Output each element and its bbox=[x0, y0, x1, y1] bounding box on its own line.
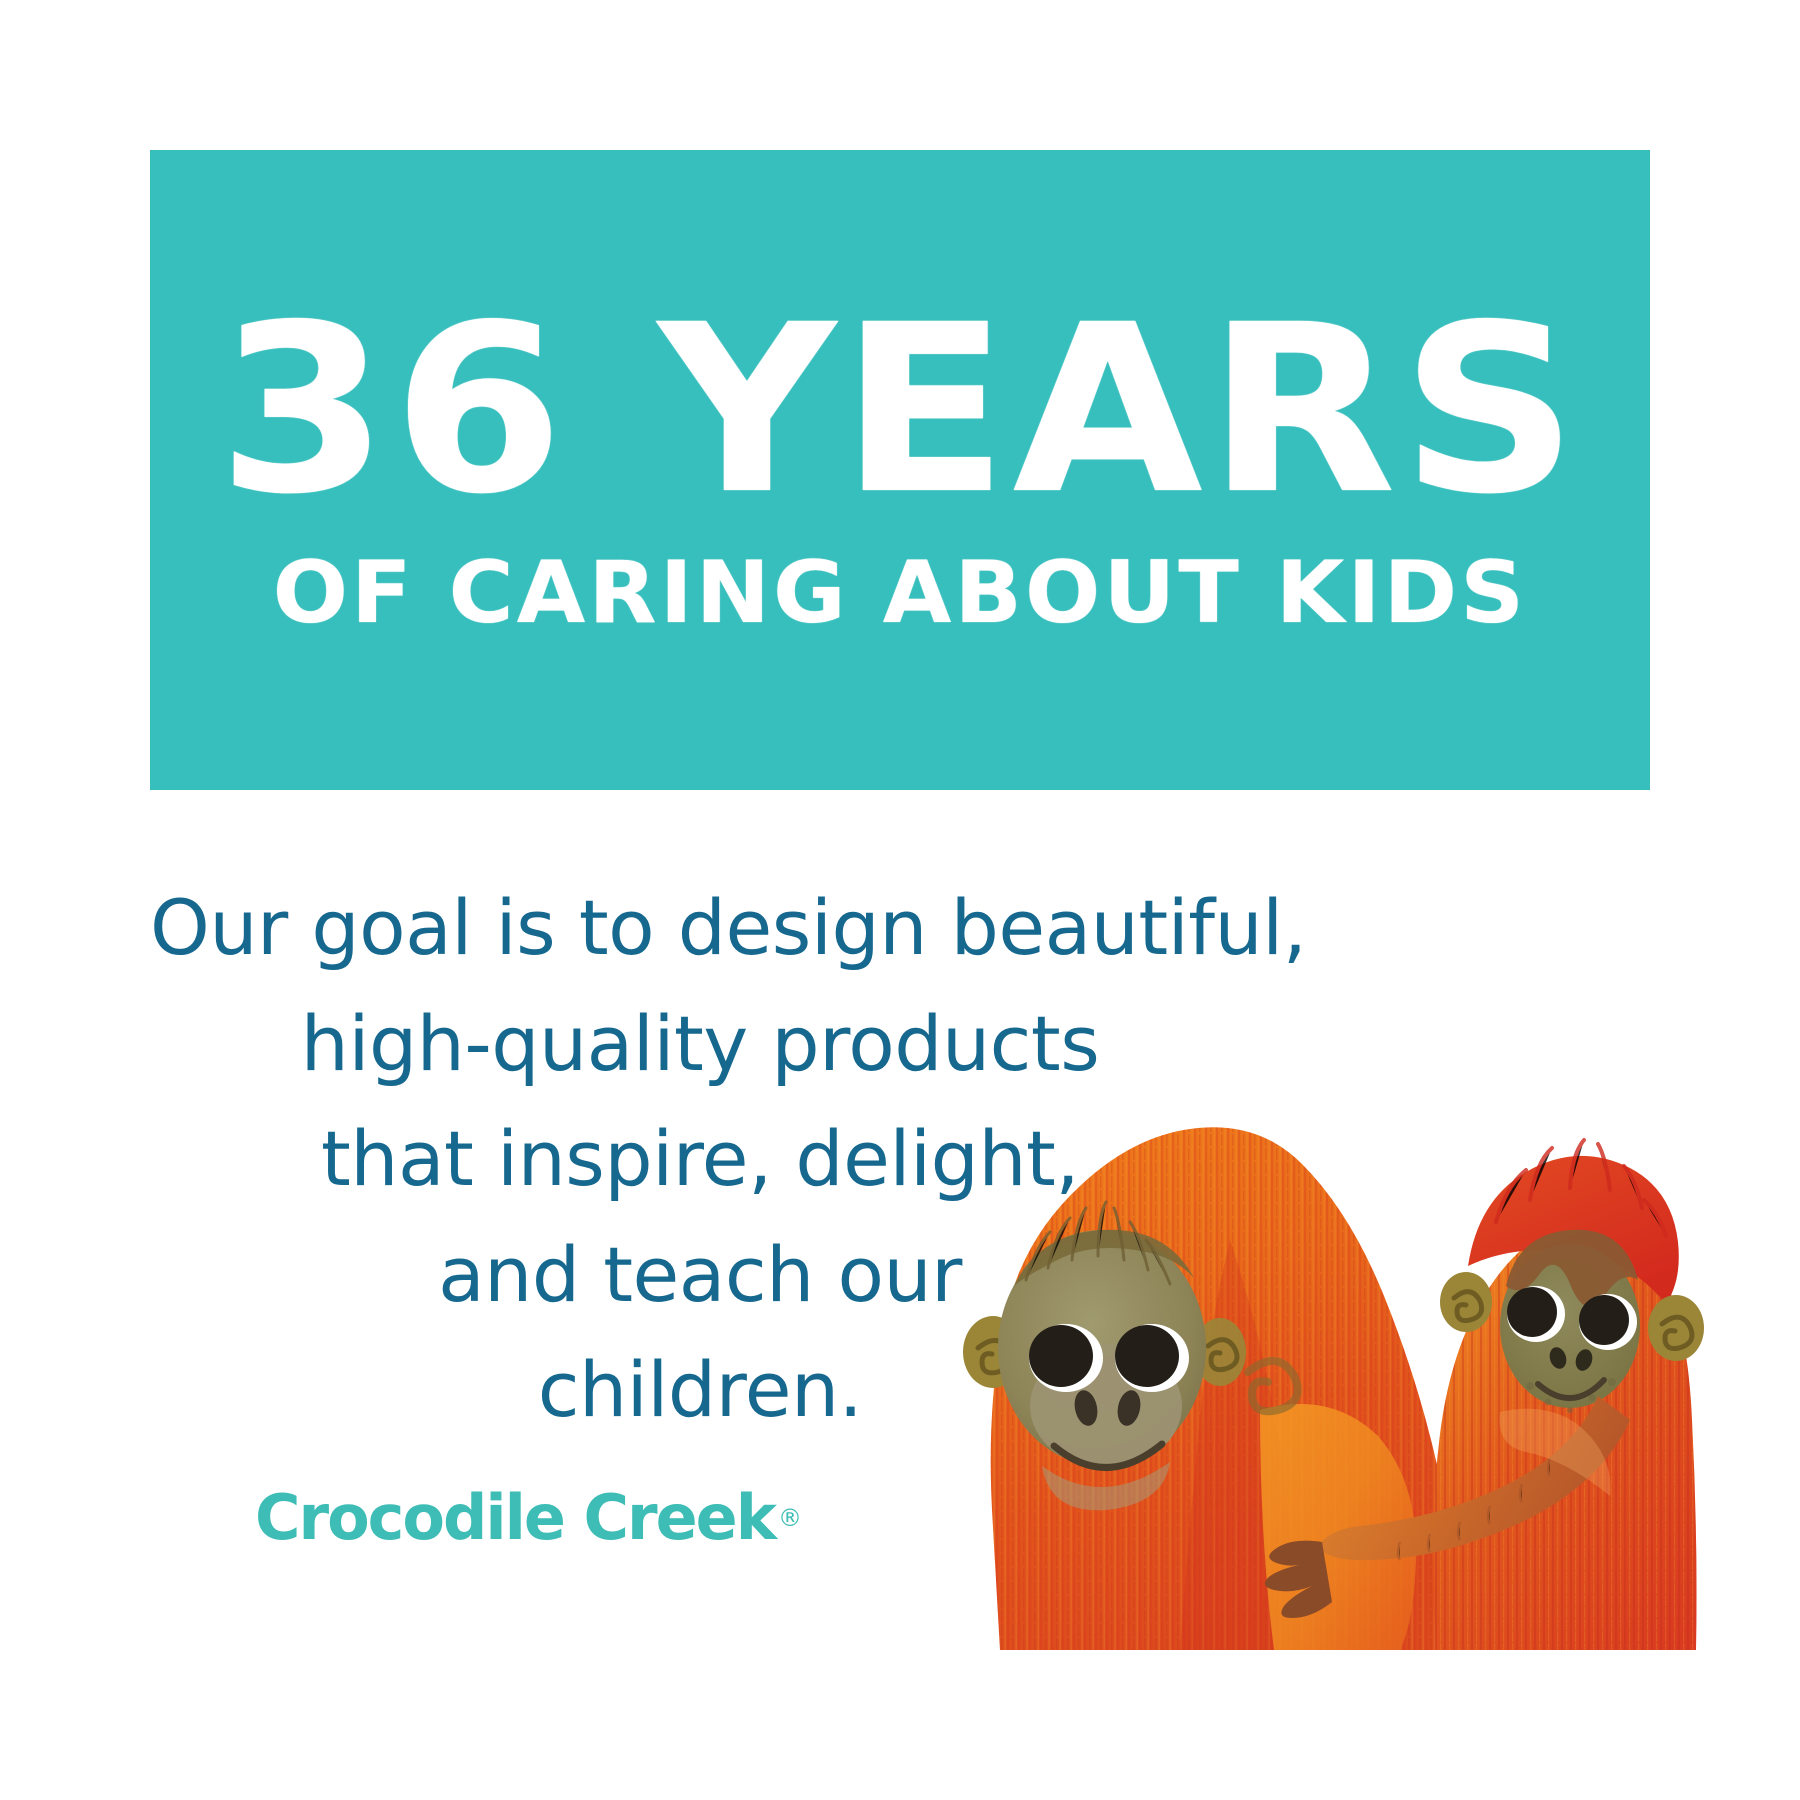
baby-right-ear bbox=[1648, 1295, 1704, 1361]
page-subtitle: OF CARING ABOUT KIDS bbox=[273, 550, 1527, 636]
poster-canvas: 36 YEARS OF CARING ABOUT KIDS Our goal i… bbox=[0, 0, 1800, 1800]
baby-left-eye bbox=[1507, 1286, 1565, 1342]
teal-headline-banner: 36 YEARS OF CARING ABOUT KIDS bbox=[150, 150, 1650, 790]
brand-logo: Crocodile Creek® bbox=[255, 1478, 725, 1558]
adult-right-eye bbox=[1115, 1324, 1189, 1392]
registered-trademark-icon: ® bbox=[778, 1504, 802, 1532]
mission-line-2: high-quality products bbox=[150, 986, 1250, 1102]
orangutan-illustration bbox=[930, 1090, 1730, 1670]
brand-logo-text: Crocodile Creek bbox=[255, 1487, 775, 1549]
adult-orangutan bbox=[963, 1127, 1464, 1650]
mission-line-1: Our goal is to design beautiful, bbox=[150, 870, 1250, 986]
adult-left-eye bbox=[1029, 1324, 1103, 1392]
baby-right-eye bbox=[1579, 1294, 1637, 1350]
page-title: 36 YEARS bbox=[218, 304, 1583, 517]
